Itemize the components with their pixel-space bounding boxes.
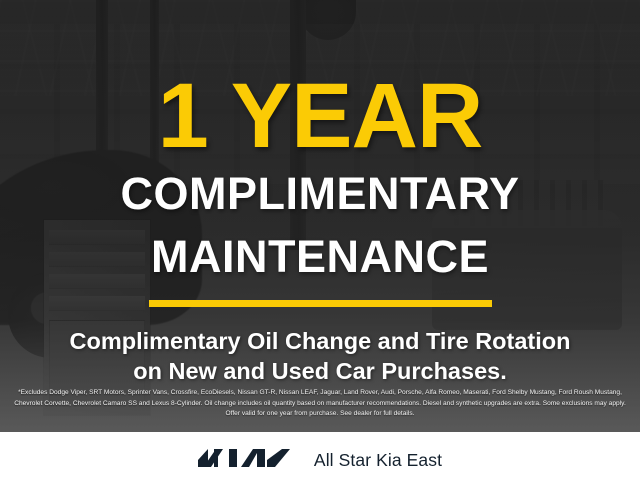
headline-secondary-line-2: MAINTENANCE: [151, 234, 489, 281]
promotional-banner: 1 YEAR COMPLIMENTARY MAINTENANCE Complim…: [0, 0, 640, 488]
banner-content: 1 YEAR COMPLIMENTARY MAINTENANCE Complim…: [0, 0, 640, 432]
headline-secondary-line-1: COMPLIMENTARY: [121, 171, 520, 218]
dealer-footer: All Star Kia East: [0, 432, 640, 488]
tagline-line-2: on New and Used Car Purchases.: [133, 356, 507, 386]
disclaimer-text: *Excludes Dodge Viper, SRT Motors, Sprin…: [14, 388, 626, 420]
yellow-divider-rule: [149, 300, 492, 307]
headline-primary: 1 YEAR: [158, 78, 483, 155]
tagline-line-1: Complimentary Oil Change and Tire Rotati…: [70, 326, 571, 356]
kia-logo: [198, 445, 290, 476]
dealer-name: All Star Kia East: [314, 450, 442, 471]
